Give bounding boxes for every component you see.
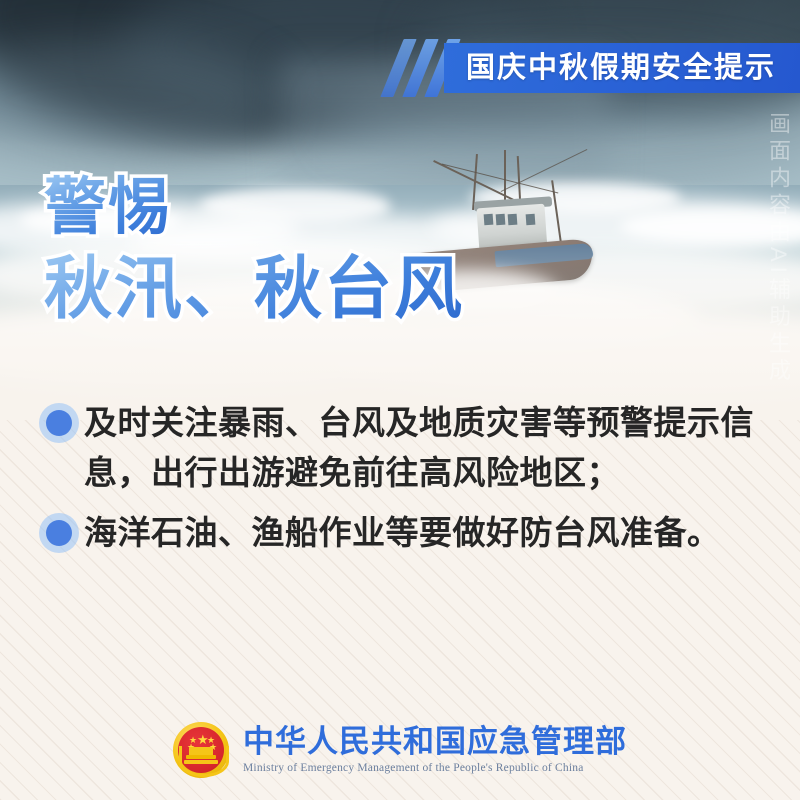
bullet-dot-icon [46, 410, 72, 436]
ministry-name-cn: 中华人民共和国应急管理部 [243, 726, 627, 759]
footer-branding: ★ ★ ★ ★ ★ 中华人民共和国应急管理部 Ministry of Emerg… [0, 712, 800, 788]
headline-line-2: 秋汛、秋台风 秋汛、秋台风 [44, 254, 464, 325]
boat-window [496, 214, 506, 226]
banner-block: 国庆中秋假期安全提示 [444, 43, 800, 93]
headline-line-1-fill: 警惕 [44, 173, 172, 242]
boat-window [508, 214, 518, 226]
bullet-dot-wrap [40, 508, 84, 546]
banner-title: 国庆中秋假期安全提示 [444, 54, 776, 83]
emblem-wheat-ears [179, 746, 229, 777]
national-emblem-icon: ★ ★ ★ ★ ★ [173, 722, 229, 778]
boat-window [526, 214, 536, 226]
safety-tips-list: 及时关注暴雨、台风及地质灾害等预警提示信息，出行出游避免前往高风险地区； 海洋石… [40, 398, 762, 568]
footer-text-block: 中华人民共和国应急管理部 Ministry of Emergency Manag… [243, 726, 627, 775]
bullet-dot-icon [46, 520, 72, 546]
headline: 警惕 警惕 秋汛、秋台风 秋汛、秋台风 [44, 176, 464, 325]
bullet-dot-wrap [40, 398, 84, 436]
list-item-text: 海洋石油、渔船作业等要做好防台风准备。 [84, 508, 762, 558]
ai-generated-watermark: 画面内容由AI辅助生成 [762, 112, 794, 386]
header-banner: 国庆中秋假期安全提示 [0, 43, 800, 93]
list-item: 海洋石油、渔船作业等要做好防台风准备。 [40, 508, 762, 558]
headline-line-2-fill: 秋汛、秋台风 [44, 251, 464, 327]
boat-window [484, 214, 494, 226]
boat-rigging [501, 149, 588, 192]
list-item-text: 及时关注暴雨、台风及地质灾害等预警提示信息，出行出游避免前往高风险地区； [84, 398, 762, 498]
headline-line-1: 警惕 警惕 [44, 176, 464, 240]
list-item: 及时关注暴雨、台风及地质灾害等预警提示信息，出行出游避免前往高风险地区； [40, 398, 762, 498]
safety-poster: 画面内容由AI辅助生成 国庆中秋假期安全提示 警惕 警惕 秋汛、秋台风 秋汛、秋… [0, 0, 800, 800]
ministry-name-en: Ministry of Emergency Management of the … [243, 762, 627, 774]
